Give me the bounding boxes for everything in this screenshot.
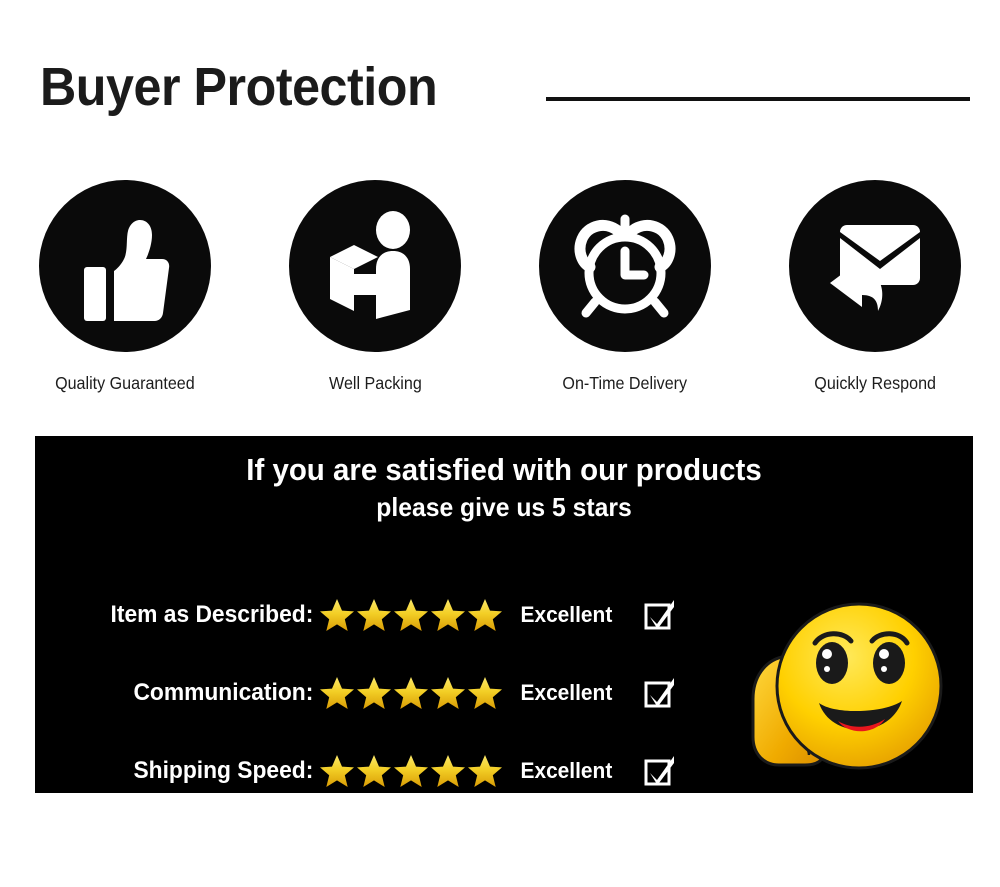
star-icon [430,754,466,788]
rating-label: Item as Described: [49,601,319,629]
star-icon [393,598,429,632]
star-icon [430,598,466,632]
rating-label: Shipping Speed: [49,757,319,785]
feature-quality-guaranteed: Quality Guaranteed [0,180,250,410]
star-icon [393,754,429,788]
feature-list: Quality Guaranteed [0,180,1000,410]
star-icon [393,676,429,710]
review-request-panel: If you are satisfied with our products p… [35,436,973,793]
rating-label: Communication: [49,679,319,707]
star-rating[interactable] [319,598,511,632]
title-row: Buyer Protection [0,56,1000,126]
feature-label: On-Time Delivery [563,373,688,394]
star-icon [356,676,392,710]
star-icon [356,598,392,632]
panel-headline-line-2: please give us 5 stars [58,490,949,524]
rating-verdict: Excellent [511,758,636,784]
checkbox-checked-icon[interactable] [643,598,677,632]
smiley-thumbs-up-icon [735,591,950,781]
star-icon [319,754,355,788]
buyer-protection-banner: Buyer Protection Quality Guaranteed [0,0,1000,887]
star-icon [467,598,503,632]
packing-worker-icon [289,180,461,352]
feature-quickly-respond: Quickly Respond [750,180,1000,410]
page-title: Buyer Protection [40,56,437,118]
star-rating[interactable] [319,754,511,788]
feature-label: Quality Guaranteed [55,373,195,394]
checkbox-checked-icon[interactable] [643,754,677,788]
title-divider-rule [546,97,970,101]
reply-envelope-icon [789,180,961,352]
panel-headline: If you are satisfied with our products p… [35,450,973,524]
checkbox-checked-icon[interactable] [643,676,677,710]
star-icon [467,676,503,710]
feature-on-time-delivery: On-Time Delivery [500,180,750,410]
feature-label: Quickly Respond [814,373,936,394]
alarm-clock-icon [539,180,711,352]
star-icon [430,676,466,710]
rating-row: Communication: Excellent [35,654,735,732]
star-icon [467,754,503,788]
star-icon [319,676,355,710]
panel-headline-line-1: If you are satisfied with our products [58,450,949,490]
star-rating[interactable] [319,676,511,710]
rating-row: Item as Described: Excellent [35,576,735,654]
rating-row: Shipping Speed: Excellent [35,732,735,793]
rating-rows: Item as Described: Excellent Communicati… [35,576,735,793]
thumbs-up-icon [39,180,211,352]
rating-verdict: Excellent [511,680,636,706]
feature-well-packing: Well Packing [250,180,500,410]
feature-label: Well Packing [329,373,422,394]
star-icon [356,754,392,788]
star-icon [319,598,355,632]
rating-verdict: Excellent [511,602,636,628]
